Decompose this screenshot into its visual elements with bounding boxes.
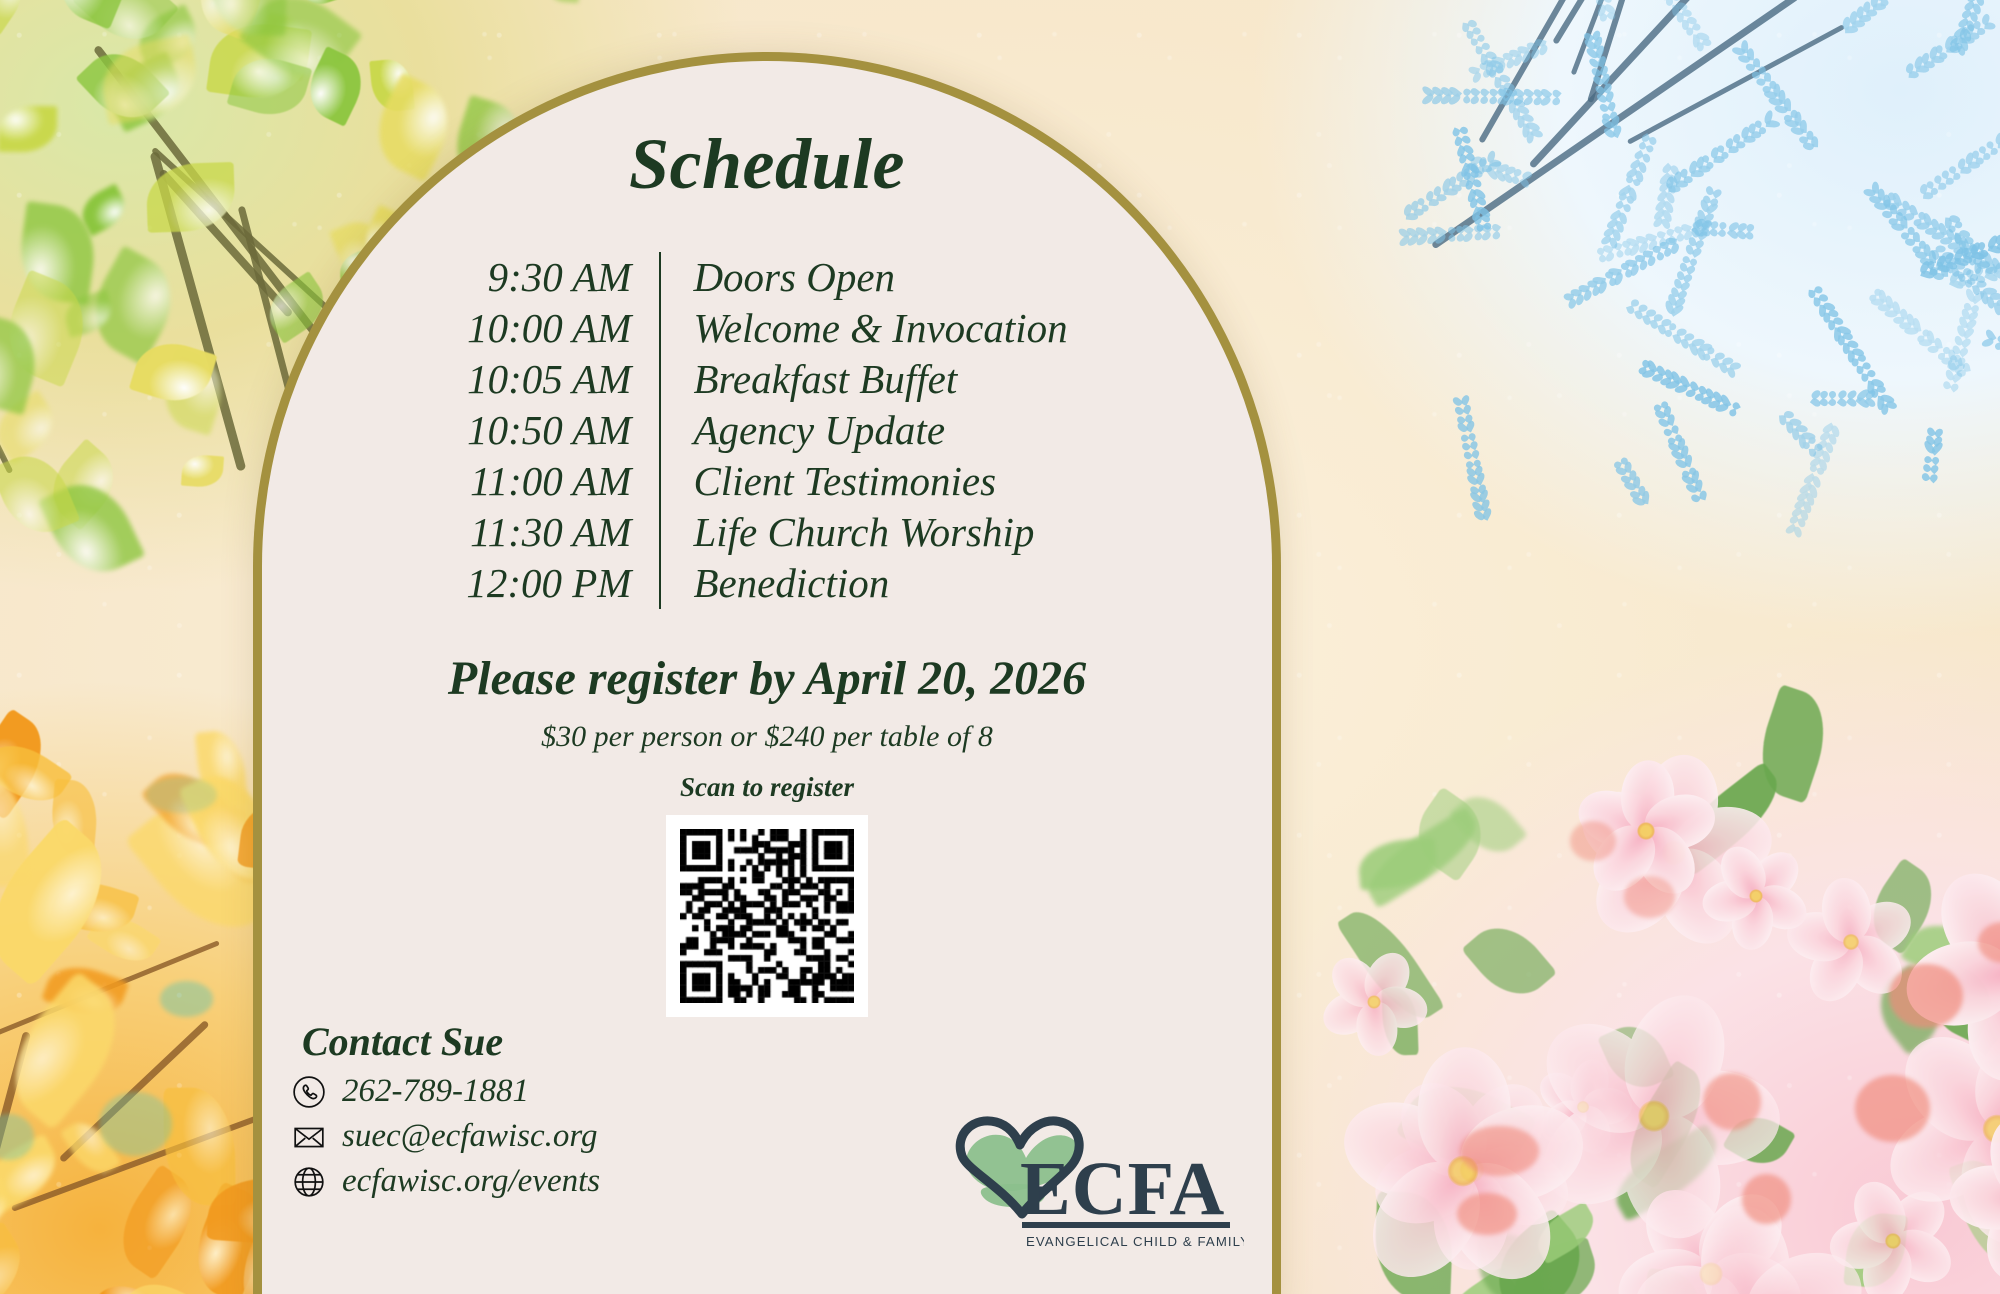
schedule-row: 12:00 PMBenediction bbox=[466, 558, 1067, 609]
berry bbox=[1457, 1193, 1516, 1236]
frond bbox=[1614, 457, 1653, 509]
contact-email-text: suec@ecfawisc.org bbox=[342, 1118, 598, 1155]
qr-code[interactable] bbox=[666, 815, 868, 1017]
arch-card: Schedule 9:30 AMDoors Open10:00 AMWelcom… bbox=[253, 52, 1281, 1294]
schedule-row: 10:50 AMAgency Update bbox=[466, 405, 1067, 456]
frond bbox=[1922, 429, 1944, 482]
scan-to-register-label: Scan to register bbox=[306, 772, 1228, 803]
frond bbox=[1663, 112, 1779, 196]
contact-website-text: ecfawisc.org/events bbox=[342, 1163, 600, 1200]
frond bbox=[1903, 14, 1995, 81]
envelope-icon bbox=[292, 1120, 326, 1154]
frond bbox=[1918, 122, 2000, 202]
contact-phone-text: 262-789-1881 bbox=[342, 1073, 529, 1110]
frond bbox=[1839, 0, 1928, 37]
berry bbox=[1703, 1073, 1761, 1130]
contact-heading: Contact Sue bbox=[292, 1018, 600, 1065]
contact-email-row[interactable]: suec@ecfawisc.org bbox=[292, 1118, 600, 1155]
frond bbox=[1982, 329, 2000, 386]
schedule-time: 11:00 AM bbox=[466, 456, 660, 507]
schedule-time: 9:30 AM bbox=[466, 252, 660, 303]
schedule-time: 10:00 AM bbox=[466, 303, 660, 354]
leaf bbox=[181, 454, 224, 489]
berry bbox=[1460, 1126, 1538, 1175]
leaf bbox=[1461, 912, 1558, 1011]
blossom-flowers-decoration bbox=[1360, 754, 2000, 1294]
frond bbox=[1653, 400, 1709, 504]
winter-evergreen-decoration bbox=[1420, 0, 2000, 520]
frond bbox=[1601, 133, 1658, 248]
page-title: Schedule bbox=[306, 123, 1228, 206]
frond bbox=[1427, 87, 1561, 105]
schedule-item: Doors Open bbox=[660, 252, 1067, 303]
schedule-item: Life Church Worship bbox=[660, 507, 1067, 558]
schedule-item: Breakfast Buffet bbox=[660, 354, 1067, 405]
berry bbox=[1889, 964, 1963, 1029]
leaf bbox=[542, 0, 583, 3]
ecfa-logo-graphic: ECFA EVANGELICAL CHILD & FAMILY AGENCY bbox=[944, 1104, 1244, 1254]
logo-tagline: EVANGELICAL CHILD & FAMILY AGENCY bbox=[1026, 1234, 1244, 1249]
contact-website-row[interactable]: ecfawisc.org/events bbox=[292, 1163, 600, 1200]
berry bbox=[1742, 1174, 1791, 1224]
schedule-table: 9:30 AMDoors Open10:00 AMWelcome & Invoc… bbox=[466, 252, 1067, 609]
frond bbox=[1811, 391, 1870, 407]
logo-rule bbox=[1022, 1222, 1230, 1228]
price-text: $30 per person or $240 per table of 8 bbox=[306, 720, 1228, 754]
globe-icon bbox=[292, 1165, 326, 1199]
contact-block: Contact Sue 262-789-1881 suec@ecfawisc.o… bbox=[292, 1018, 600, 1200]
frond bbox=[1459, 18, 1543, 146]
logo-wordmark: ECFA bbox=[1020, 1147, 1225, 1231]
schedule-row: 9:30 AMDoors Open bbox=[466, 252, 1067, 303]
schedule-row: 11:00 AMClient Testimonies bbox=[466, 456, 1067, 507]
schedule-time: 11:30 AM bbox=[466, 507, 660, 558]
schedule-item: Client Testimonies bbox=[660, 456, 1067, 507]
accent-blob bbox=[99, 1092, 173, 1156]
schedule-item: Welcome & Invocation bbox=[660, 303, 1067, 354]
schedule-time: 12:00 PM bbox=[466, 558, 660, 609]
frond bbox=[1453, 392, 1493, 522]
berry bbox=[1624, 876, 1675, 918]
schedule-item: Benediction bbox=[660, 558, 1067, 609]
leaf bbox=[0, 1220, 38, 1294]
ecfa-logo: ECFA EVANGELICAL CHILD & FAMILY AGENCY bbox=[944, 1104, 1244, 1254]
contact-phone-row[interactable]: 262-789-1881 bbox=[292, 1073, 600, 1110]
leaf bbox=[95, 33, 204, 125]
register-deadline: Please register by April 20, 2026 bbox=[306, 651, 1228, 706]
schedule-item: Agency Update bbox=[660, 405, 1067, 456]
leaf bbox=[0, 0, 34, 36]
schedule-time: 10:50 AM bbox=[466, 405, 660, 456]
accent-blob bbox=[146, 777, 217, 813]
frond bbox=[1583, 27, 1622, 140]
qr-code-image bbox=[680, 829, 854, 1003]
berry bbox=[1855, 1075, 1930, 1141]
phone-icon bbox=[292, 1075, 326, 1109]
schedule-row: 11:30 AMLife Church Worship bbox=[466, 507, 1067, 558]
accent-blob bbox=[160, 981, 213, 1017]
schedule-time: 10:05 AM bbox=[466, 354, 660, 405]
schedule-row: 10:00 AMWelcome & Invocation bbox=[466, 303, 1067, 354]
schedule-row: 10:05 AMBreakfast Buffet bbox=[466, 354, 1067, 405]
berry bbox=[1570, 821, 1616, 861]
leaf bbox=[0, 105, 57, 151]
frond bbox=[1680, 0, 1760, 3]
